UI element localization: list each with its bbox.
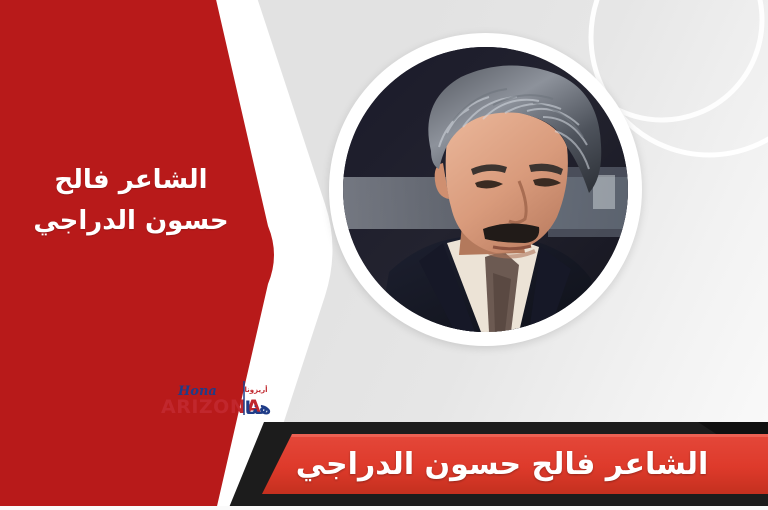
poster-canvas: الشاعر فالح حسون الدراجي — [0, 0, 768, 510]
headline-line-2: حسون الدراجي — [0, 201, 262, 242]
portrait-ring — [329, 33, 642, 346]
avatar — [343, 47, 628, 332]
page-title: الشاعر فالح حسون الدراجي — [0, 160, 262, 242]
bottom-banner: الشاعر فالح حسون الدراجي — [0, 400, 768, 510]
banner-bottom-strip — [0, 506, 768, 510]
banner-title: الشاعر فالح حسون الدراجي — [262, 434, 742, 494]
headline-line-1: الشاعر فالح — [54, 165, 207, 195]
svg-text:أريزونا: أريزونا — [244, 385, 267, 394]
